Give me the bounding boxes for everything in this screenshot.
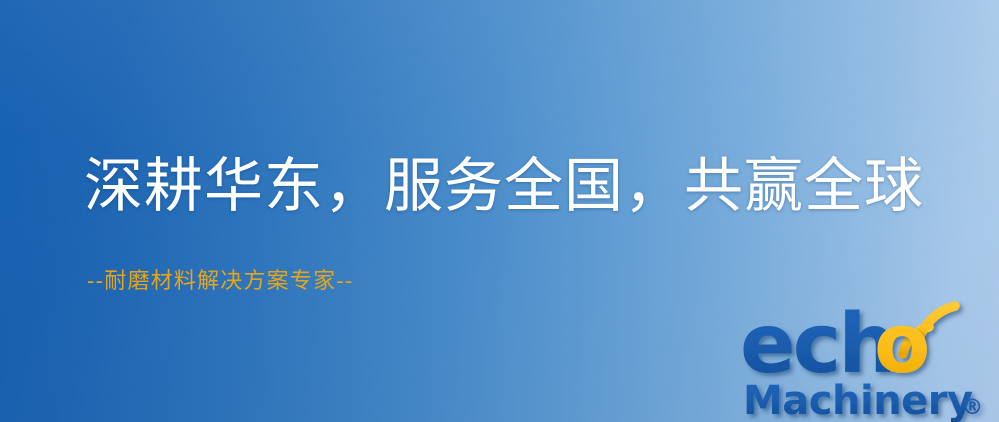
logo-tagline: Machinery	[743, 378, 973, 422]
banner-subtitle: --耐磨材料解决方案专家--	[87, 268, 354, 296]
banner-headline: 深耕华东，服务全国，共赢全球	[84, 152, 924, 220]
hero-banner: 深耕华东，服务全国，共赢全球 --耐磨材料解决方案专家--	[0, 0, 999, 422]
registered-trademark-icon: ®	[962, 395, 983, 419]
logo-artwork: ech o Machinery ®	[740, 296, 992, 422]
echo-machinery-logo[interactable]: ech o Machinery ®	[740, 296, 992, 422]
